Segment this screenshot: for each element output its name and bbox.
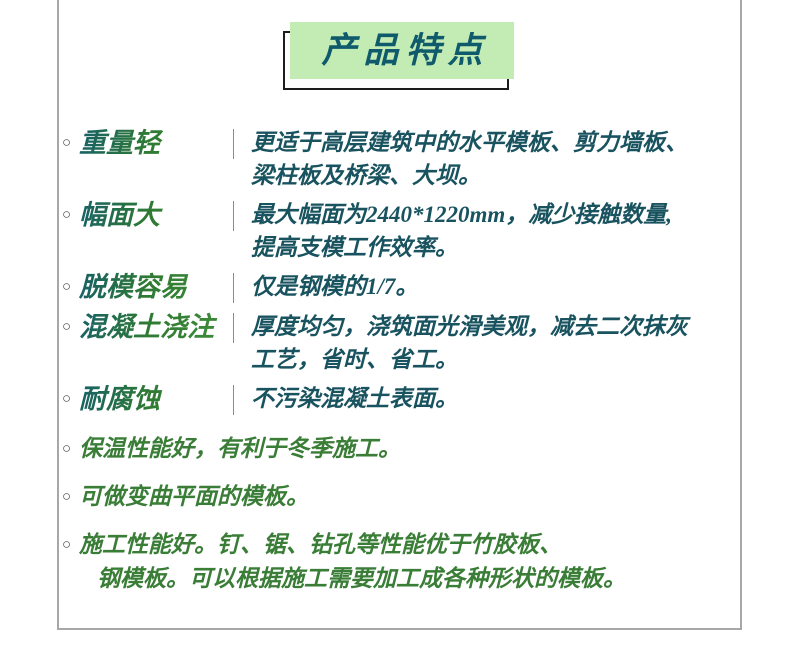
list-item: ○ 保温性能好，有利于冬季施工。 xyxy=(62,432,742,466)
note-text: 可做变曲平面的模板。 xyxy=(79,480,742,514)
bullet-icon: ○ xyxy=(62,480,79,513)
feature-label: 耐腐蚀 xyxy=(79,382,233,416)
feature-description-line2: 梁柱板及桥梁、大坝。 xyxy=(251,163,481,188)
feature-description-line1: 不污染混凝土表面。 xyxy=(251,386,458,411)
bullet-icon: ○ xyxy=(62,310,79,344)
feature-description-line2: 提高支模工作效率。 xyxy=(251,235,458,260)
note-line1: 施工性能好。钉、锯、钻孔等性能优于竹胶板、 xyxy=(79,532,562,557)
feature-description: 仅是钢模的1/7。 xyxy=(234,270,734,303)
bullet-icon: ○ xyxy=(62,198,79,232)
bullet-icon: ○ xyxy=(62,382,79,416)
note-line1: 保温性能好，有利于冬季施工。 xyxy=(79,436,401,461)
feature-label: 重量轻 xyxy=(79,126,233,160)
product-features-page: 产品特点 ○ 重量轻 更适于高层建筑中的水平模板、剪力墙板、梁柱板及桥梁、大坝。… xyxy=(0,0,800,648)
feature-description: 最大幅面为2440*1220mm，减少接触数量,提高支模工作效率。 xyxy=(234,198,734,264)
feature-label: 脱模容易 xyxy=(79,270,233,304)
feature-description-line2: 工艺，省时、省工。 xyxy=(251,347,458,372)
feature-label: 幅面大 xyxy=(79,198,233,232)
feature-description-line1: 仅是钢模的1/7。 xyxy=(251,274,418,299)
list-item: ○ 可做变曲平面的模板。 xyxy=(62,480,742,514)
feature-description: 不污染混凝土表面。 xyxy=(234,382,734,415)
bullet-icon: ○ xyxy=(62,126,79,160)
note-line2: 钢模板。可以根据施工需要加工成各种形状的模板。 xyxy=(79,562,742,596)
title-banner: 产品特点 xyxy=(283,22,523,94)
note-line1: 可做变曲平面的模板。 xyxy=(79,484,309,509)
page-frame-bottom-rule xyxy=(57,628,742,630)
feature-label: 混凝土浇注 xyxy=(79,310,233,344)
feature-description-line1: 最大幅面为2440*1220mm，减少接触数量, xyxy=(251,202,672,227)
bullet-icon: ○ xyxy=(62,528,79,561)
feature-row: ○ 幅面大 最大幅面为2440*1220mm，减少接触数量,提高支模工作效率。 xyxy=(62,198,734,264)
bullet-icon: ○ xyxy=(62,432,79,465)
feature-row: ○ 耐腐蚀 不污染混凝土表面。 xyxy=(62,382,734,416)
page-frame-left-rule xyxy=(57,0,59,630)
feature-description-line1: 厚度均匀，浇筑面光滑美观，减去二次抹灰 xyxy=(251,314,688,339)
page-title: 产品特点 xyxy=(290,22,514,79)
bullet-icon: ○ xyxy=(62,270,79,304)
feature-description-line1: 更适于高层建筑中的水平模板、剪力墙板、 xyxy=(251,130,688,155)
note-text: 施工性能好。钉、锯、钻孔等性能优于竹胶板、钢模板。可以根据施工需要加工成各种形状… xyxy=(79,528,742,596)
list-item: ○ 施工性能好。钉、锯、钻孔等性能优于竹胶板、钢模板。可以根据施工需要加工成各种… xyxy=(62,528,742,596)
feature-description: 厚度均匀，浇筑面光滑美观，减去二次抹灰工艺，省时、省工。 xyxy=(234,310,734,376)
feature-description: 更适于高层建筑中的水平模板、剪力墙板、梁柱板及桥梁、大坝。 xyxy=(234,126,734,192)
notes-list: ○ 保温性能好，有利于冬季施工。 ○ 可做变曲平面的模板。 ○ 施工性能好。钉、… xyxy=(62,432,742,610)
feature-row: ○ 重量轻 更适于高层建筑中的水平模板、剪力墙板、梁柱板及桥梁、大坝。 xyxy=(62,126,734,192)
feature-row: ○ 混凝土浇注 厚度均匀，浇筑面光滑美观，减去二次抹灰工艺，省时、省工。 xyxy=(62,310,734,376)
note-text: 保温性能好，有利于冬季施工。 xyxy=(79,432,742,466)
feature-list: ○ 重量轻 更适于高层建筑中的水平模板、剪力墙板、梁柱板及桥梁、大坝。 ○ 幅面… xyxy=(62,126,734,422)
feature-row: ○ 脱模容易 仅是钢模的1/7。 xyxy=(62,270,734,304)
